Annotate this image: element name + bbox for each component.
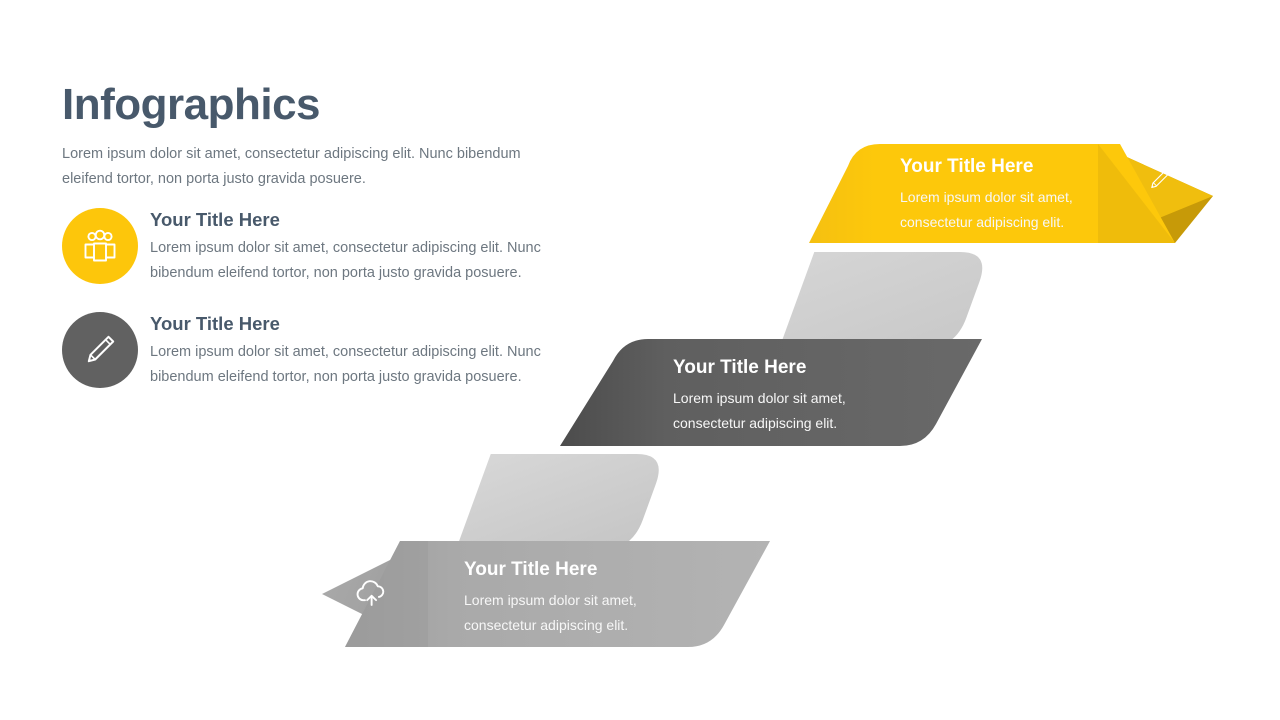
cloud-upload-icon (358, 581, 384, 605)
feature-item-1[interactable]: Your Title Here Lorem ipsum dolor sit am… (62, 208, 582, 294)
page-subtitle: Lorem ipsum dolor sit amet, consectetur … (62, 142, 552, 192)
ribbon-title: Your Title Here (464, 558, 674, 583)
ribbon-description-line-1: Lorem ipsum dolor sit amet, (673, 386, 883, 411)
pencil-icon (1152, 169, 1170, 187)
ribbon-text-dark-gray[interactable]: Your Title Here Lorem ipsum dolor sit am… (673, 356, 883, 436)
yellow-crease (1098, 144, 1175, 243)
feature-title: Your Title Here (150, 312, 582, 336)
page-title: Infographics (62, 82, 562, 128)
feature-title: Your Title Here (150, 208, 582, 232)
mid-band-crease (345, 541, 428, 647)
yellow-arrow-head (1098, 144, 1213, 243)
group-people-icon (62, 208, 138, 284)
pencil-icon (62, 312, 138, 388)
connector-fold-upper (779, 252, 990, 348)
ribbon-text-yellow[interactable]: Your Title Here Lorem ipsum dolor sit am… (900, 155, 1100, 235)
yellow-fold-shadow (1098, 144, 1213, 243)
ribbon-description-line-2: consectetur adipiscing elit. (464, 613, 674, 638)
ribbon-title: Your Title Here (673, 356, 883, 381)
connector-fold-lower (456, 454, 667, 550)
feature-description: Lorem ipsum dolor sit amet, consectetur … (150, 236, 560, 286)
mid-band-arrow-tab (322, 541, 428, 647)
feature-item-2[interactable]: Your Title Here Lorem ipsum dolor sit am… (62, 312, 582, 398)
ribbon-description-line-1: Lorem ipsum dolor sit amet, (464, 588, 674, 613)
ribbon-text-mid-gray[interactable]: Your Title Here Lorem ipsum dolor sit am… (464, 558, 674, 638)
feature-description: Lorem ipsum dolor sit amet, consectetur … (150, 340, 560, 390)
ribbon-description-line-2: consectetur adipiscing elit. (673, 411, 883, 436)
ribbon-description-line-2: consectetur adipiscing elit. (900, 210, 1100, 235)
header-block: Infographics Lorem ipsum dolor sit amet,… (62, 82, 562, 192)
ribbon-description-line-1: Lorem ipsum dolor sit amet, (900, 185, 1100, 210)
ribbon-title: Your Title Here (900, 155, 1100, 180)
feature-list: Your Title Here Lorem ipsum dolor sit am… (62, 208, 582, 416)
